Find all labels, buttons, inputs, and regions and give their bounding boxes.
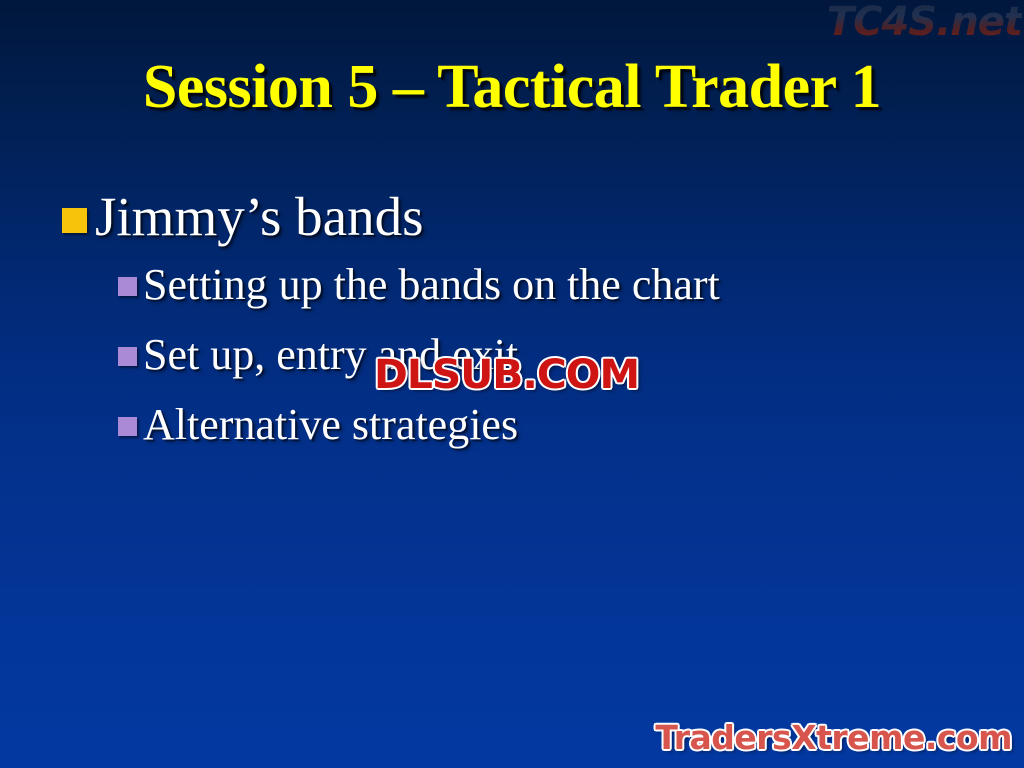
presentation-slide: Session 5 – Tactical Trader 1 Jimmy’s ba…	[0, 0, 1024, 768]
bullet-item-level2: Setting up the bands on the chart	[0, 260, 1024, 310]
bullet-label: Setting up the bands on the chart	[143, 260, 720, 310]
bullet-marker-square-lilac	[118, 277, 137, 296]
watermark-tc4s: TC4S.net	[827, 2, 1022, 42]
bullet-label: Jimmy’s bands	[95, 186, 424, 248]
slide-title-block: Session 5 – Tactical Trader 1	[0, 54, 1024, 121]
page-title: Session 5 – Tactical Trader 1	[143, 54, 881, 121]
watermark-tradersxtreme: TradersXtreme.com	[655, 721, 1012, 754]
bullet-label: Set up, entry and exit	[143, 330, 518, 380]
bullet-label: Alternative strategies	[143, 400, 518, 450]
bullet-item-level2: Alternative strategies	[0, 400, 1024, 450]
bullet-marker-square-gold	[62, 208, 87, 233]
bullet-marker-square-lilac	[118, 347, 137, 366]
bullet-marker-square-lilac	[118, 417, 137, 436]
bullet-item-level1: Jimmy’s bands	[0, 186, 1024, 248]
bullet-item-level2: Set up, entry and exit	[0, 330, 1024, 380]
slide-body-content: Jimmy’s bands Setting up the bands on th…	[0, 186, 1024, 470]
